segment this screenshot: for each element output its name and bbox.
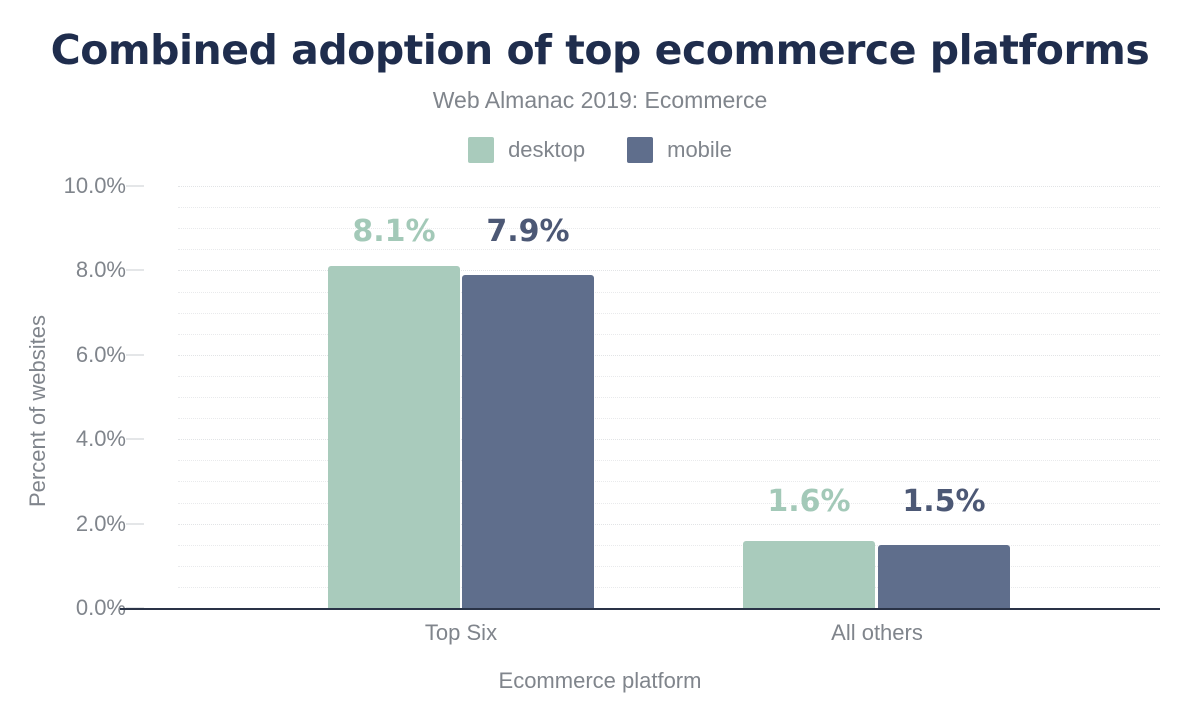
- y-tick-label-1: 2.0%: [6, 511, 126, 537]
- y-tick-label-4: 8.0%: [6, 257, 126, 283]
- gridline: [178, 228, 1160, 229]
- y-tick-label-2: 4.0%: [6, 426, 126, 452]
- legend-swatch-mobile-icon: [627, 137, 653, 163]
- legend-item-desktop[interactable]: desktop: [468, 137, 585, 163]
- chart-subtitle: Web Almanac 2019: Ecommerce: [0, 87, 1200, 114]
- y-tick-label-5: 10.0%: [6, 173, 126, 199]
- y-tick-label-0: 0.0%: [6, 595, 126, 621]
- gridline: [178, 545, 1160, 546]
- legend-swatch-desktop-icon: [468, 137, 494, 163]
- gridline: [178, 566, 1160, 567]
- gridline: [178, 186, 1160, 187]
- bar-label-desktop-all-others: 1.6%: [767, 484, 850, 519]
- bar-mobile-all-others[interactable]: [878, 545, 1010, 608]
- gridline: [178, 587, 1160, 588]
- x-axis-line: [120, 608, 1160, 610]
- gridline: [178, 249, 1160, 250]
- x-tick-label-all-others: All others: [831, 620, 923, 646]
- x-axis-title: Ecommerce platform: [0, 668, 1200, 694]
- legend-label-mobile: mobile: [667, 139, 732, 161]
- gridline: [178, 460, 1160, 461]
- y-tick-mark: [126, 354, 144, 356]
- bar-mobile-top-six[interactable]: [462, 275, 594, 608]
- bar-desktop-top-six[interactable]: [328, 266, 460, 608]
- bar-label-mobile-top-six: 7.9%: [486, 214, 569, 249]
- gridline: [178, 334, 1160, 335]
- chart-title: Combined adoption of top ecommerce platf…: [0, 26, 1200, 74]
- bar-desktop-all-others[interactable]: [743, 541, 875, 609]
- gridline: [178, 503, 1160, 504]
- y-tick-label-3: 6.0%: [6, 342, 126, 368]
- y-tick-mark: [126, 438, 144, 440]
- y-tick-mark: [126, 523, 144, 525]
- gridline: [178, 439, 1160, 440]
- gridline: [178, 376, 1160, 377]
- gridline: [178, 313, 1160, 314]
- gridline: [178, 355, 1160, 356]
- gridline: [178, 270, 1160, 271]
- x-tick-label-top-six: Top Six: [425, 620, 497, 646]
- gridline: [178, 207, 1160, 208]
- bar-label-mobile-all-others: 1.5%: [902, 484, 985, 519]
- gridline: [178, 524, 1160, 525]
- y-tick-mark: [126, 269, 144, 271]
- legend-item-mobile[interactable]: mobile: [627, 137, 732, 163]
- gridline: [178, 397, 1160, 398]
- y-tick-mark: [126, 185, 144, 187]
- gridline: [178, 481, 1160, 482]
- plot-area: 0.0% 2.0% 4.0% 6.0% 8.0% 10.0% 8.1% 7.9%…: [178, 186, 1160, 608]
- gridline: [178, 418, 1160, 419]
- ecommerce-adoption-bar-chart: Combined adoption of top ecommerce platf…: [0, 0, 1200, 722]
- bar-label-desktop-top-six: 8.1%: [352, 214, 435, 249]
- gridline: [178, 292, 1160, 293]
- legend-label-desktop: desktop: [508, 139, 585, 161]
- chart-legend: desktop mobile: [0, 137, 1200, 163]
